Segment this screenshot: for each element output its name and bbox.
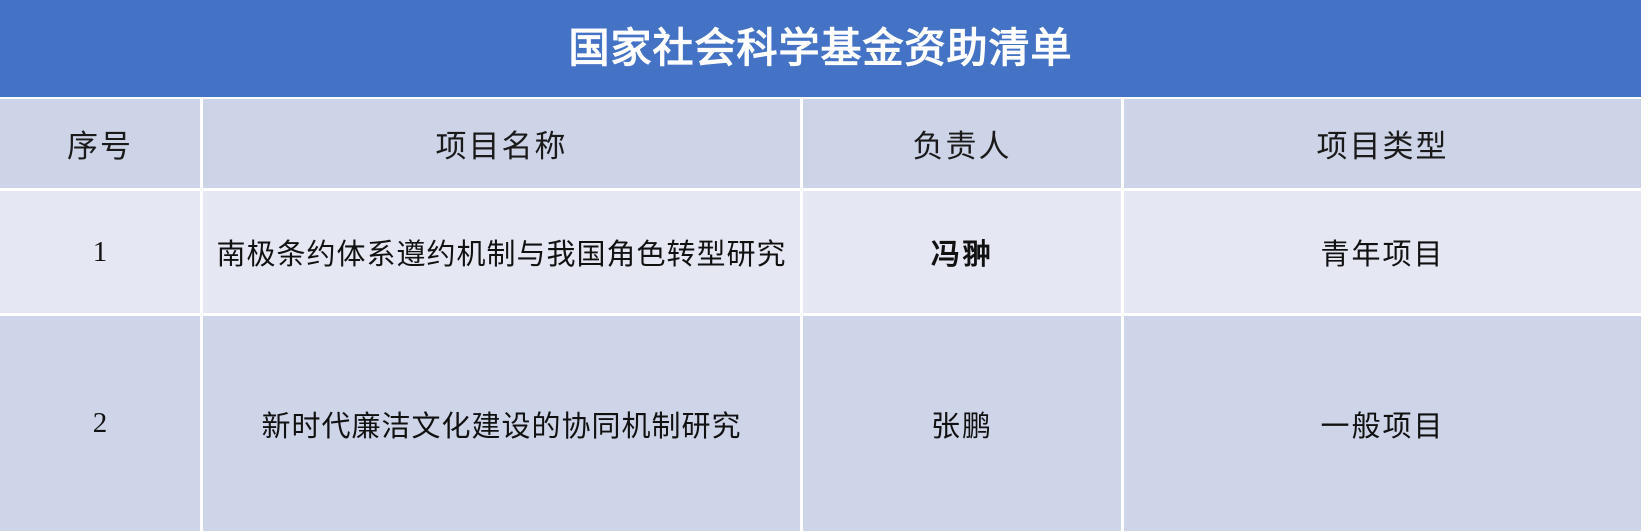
column-header-name: 项目名称 [203, 99, 803, 191]
cell-project-lead: 张鹏 [803, 316, 1124, 531]
funding-list-sheet: 国家社会科学基金资助清单 序号 项目名称 负责人 项目类型 1 南极条约体系遵约… [0, 0, 1651, 532]
title-banner: 国家社会科学基金资助清单 [0, 0, 1641, 97]
cell-project-type: 一般项目 [1124, 316, 1641, 531]
funding-list-table: 序号 项目名称 负责人 项目类型 1 南极条约体系遵约机制与我国角色转型研究 冯… [0, 99, 1641, 531]
cell-project-name: 新时代廉洁文化建设的协同机制研究 [203, 316, 803, 531]
cell-no: 2 [0, 316, 203, 531]
column-header-no: 序号 [0, 99, 203, 191]
table-row: 1 南极条约体系遵约机制与我国角色转型研究 冯翀 青年项目 [0, 191, 1641, 316]
table-row: 2 新时代廉洁文化建设的协同机制研究 张鹏 一般项目 [0, 316, 1641, 531]
cell-project-lead: 冯翀 [803, 191, 1124, 316]
cell-project-type: 青年项目 [1124, 191, 1641, 316]
table-header-row: 序号 项目名称 负责人 项目类型 [0, 99, 1641, 191]
cell-project-name: 南极条约体系遵约机制与我国角色转型研究 [203, 191, 803, 316]
page-title: 国家社会科学基金资助清单 [569, 28, 1073, 69]
cell-no: 1 [0, 191, 203, 316]
column-header-lead: 负责人 [803, 99, 1124, 191]
column-header-type: 项目类型 [1124, 99, 1641, 191]
